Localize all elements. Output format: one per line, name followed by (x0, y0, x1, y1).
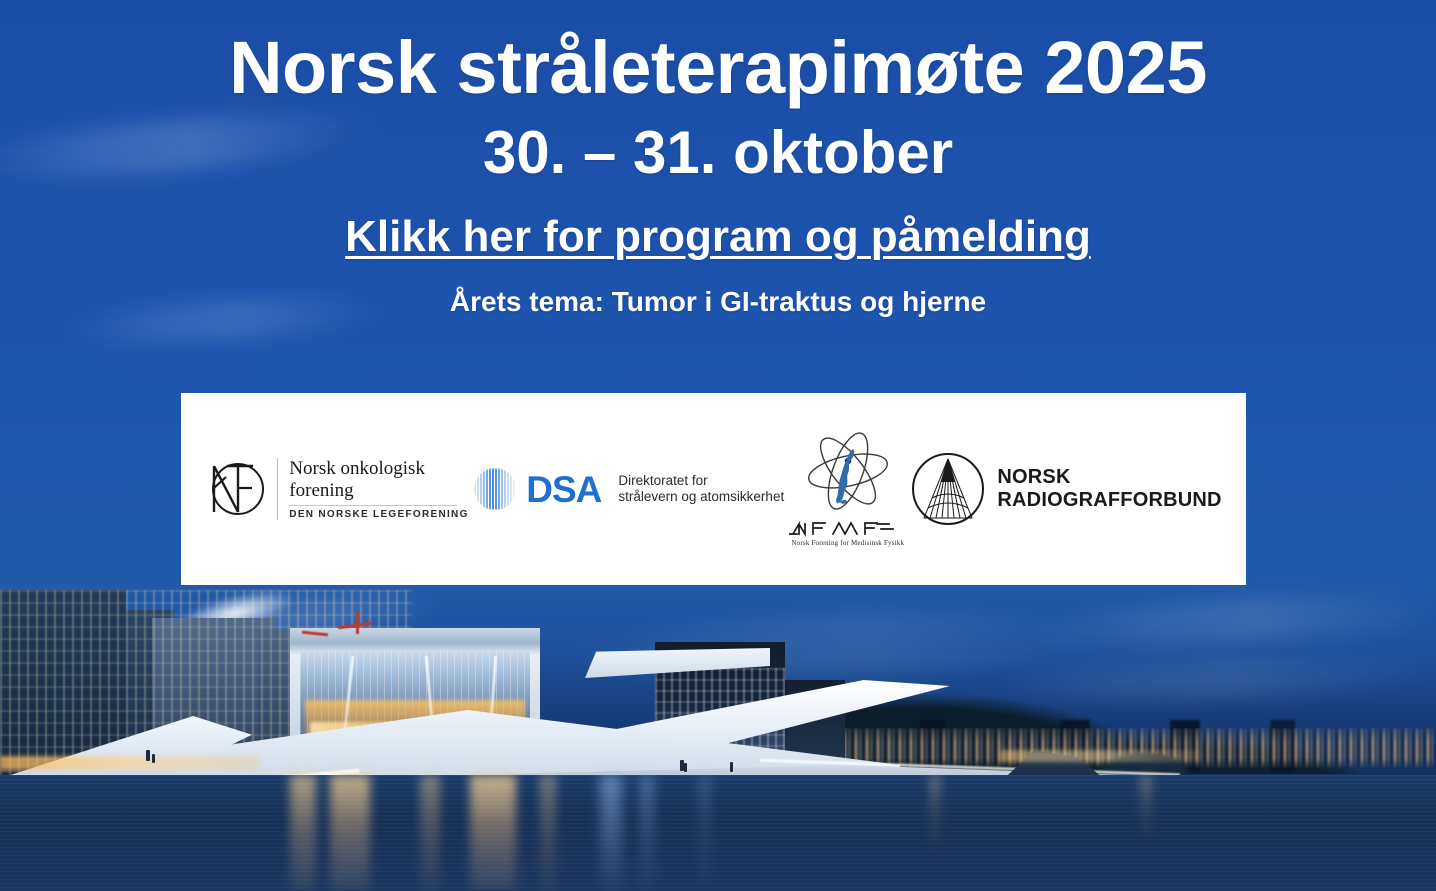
nof-line3: DEN NORSKE LEGEFORENING (289, 509, 468, 520)
logo-dsa[interactable]: DSA Direktoratet for strålevern og atoms… (473, 467, 784, 511)
radiograph-circle-fan-icon (911, 452, 985, 526)
dsa-wave-circle-icon (473, 467, 517, 511)
nof-text-block: Norsk onkologisk forening DEN NORSKE LEG… (277, 458, 468, 520)
nrf-line1: NORSK (997, 466, 1221, 489)
nof-divider (289, 505, 457, 506)
logo-norsk-onkologisk-forening[interactable]: Norsk onkologisk forening DEN NORSKE LEG… (205, 458, 468, 520)
event-theme: Årets tema: Tumor i GI-traktus og hjerne (0, 286, 1436, 318)
atom-norway-map-icon (790, 431, 906, 517)
event-banner: Norsk stråleterapimøte 2025 30. – 31. ok… (0, 0, 1436, 891)
event-dates: 30. – 31. oktober (0, 120, 1436, 186)
nrf-text-block: NORSK RADIOGRAFFORBUND (997, 466, 1221, 512)
nof-line1: Norsk onkologisk (289, 458, 468, 479)
nof-line2: forening (289, 480, 468, 501)
dsa-subtitle-line1: Direktoratet for (618, 473, 784, 489)
dsa-wordmark: DSA (526, 471, 601, 508)
organiser-logo-band: Norsk onkologisk forening DEN NORSKE LEG… (181, 393, 1246, 585)
nof-monogram-icon (205, 458, 267, 520)
registration-link-wrapper: Klikk her for program og påmelding (0, 212, 1436, 262)
registration-link[interactable]: Klikk her for program og påmelding (345, 212, 1091, 261)
nfmf-wordmark-icon (789, 518, 907, 538)
nfmf-subtitle: Norsk Forening for Medisinsk Fysikk (791, 539, 904, 547)
nrf-line2: RADIOGRAFFORBUND (997, 489, 1221, 512)
logo-norsk-radiografforbund[interactable]: NORSK RADIOGRAFFORBUND (911, 452, 1221, 526)
dsa-subtitle: Direktoratet for strålevern og atomsikke… (618, 473, 784, 505)
dsa-subtitle-line2: strålevern og atomsikkerhet (618, 489, 784, 505)
event-title: Norsk stråleterapimøte 2025 (0, 28, 1436, 108)
logo-nfmf[interactable]: Norsk Forening for Medisinsk Fysikk (789, 431, 907, 547)
